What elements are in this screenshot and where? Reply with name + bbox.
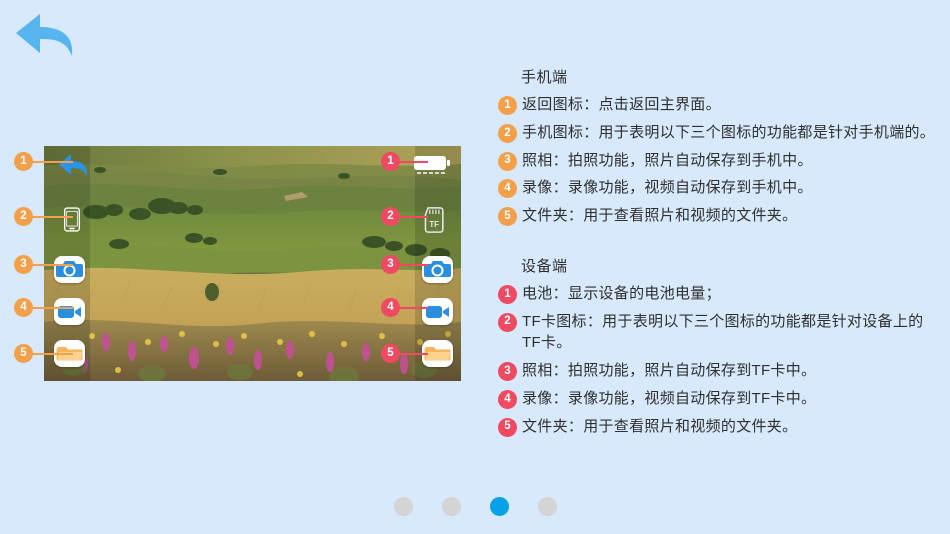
legend-item: 1 返回图标：点击返回主界面。 bbox=[498, 94, 938, 116]
callout-badge: 4 bbox=[14, 298, 33, 317]
callout-phone-4: 4 bbox=[14, 298, 73, 317]
leader-line bbox=[400, 353, 428, 355]
callout-phone-5: 5 bbox=[14, 344, 73, 363]
leader-line bbox=[33, 353, 73, 355]
callout-phone-1: 1 bbox=[14, 152, 73, 171]
section-title: 手机端 bbox=[521, 66, 938, 87]
item-text: 返回图标：点击返回主界面。 bbox=[522, 94, 938, 116]
section-divider bbox=[498, 233, 938, 255]
leader-line bbox=[400, 216, 428, 218]
callout-device-1: 1 bbox=[381, 152, 428, 171]
callout-badge: 4 bbox=[381, 298, 400, 317]
item-badge: 3 bbox=[498, 362, 517, 381]
callout-phone-3: 3 bbox=[14, 255, 73, 274]
callout-badge: 3 bbox=[14, 255, 33, 274]
legend-item: 1 电池：显示设备的电池电量； bbox=[498, 283, 938, 305]
leader-line bbox=[400, 161, 428, 163]
callout-badge: 1 bbox=[14, 152, 33, 171]
item-text: 录像：录像功能，视频自动保存到手机中。 bbox=[522, 177, 938, 199]
item-text: 照相：拍照功能，照片自动保存到TF卡中。 bbox=[522, 360, 938, 382]
pagination-dots bbox=[0, 497, 950, 516]
item-badge: 5 bbox=[498, 418, 517, 437]
item-text: 电池：显示设备的电池电量； bbox=[522, 283, 938, 305]
legend-item: 5 文件夹：用于查看照片和视频的文件夹。 bbox=[498, 416, 938, 438]
callout-device-5: 5 bbox=[381, 344, 428, 363]
callout-badge: 2 bbox=[14, 207, 33, 226]
pagination-dot-3[interactable] bbox=[490, 497, 509, 516]
callout-device-2: 2 bbox=[381, 207, 428, 226]
item-badge: 1 bbox=[498, 96, 517, 115]
item-badge: 2 bbox=[498, 124, 517, 143]
pagination-dot-2[interactable] bbox=[442, 497, 461, 516]
item-text: 文件夹：用于查看照片和视频的文件夹。 bbox=[522, 416, 938, 438]
pagination-dot-1[interactable] bbox=[394, 497, 413, 516]
leader-line bbox=[33, 307, 73, 309]
back-arrow-icon[interactable] bbox=[10, 8, 82, 66]
pagination-dot-4[interactable] bbox=[538, 497, 557, 516]
item-badge: 3 bbox=[498, 152, 517, 171]
section-phone: 手机端 1 返回图标：点击返回主界面。 2 手机图标：用于表明以下三个图标的功能… bbox=[498, 66, 938, 227]
callout-device-3: 3 bbox=[381, 255, 428, 274]
legend-item: 3 照相：拍照功能，照片自动保存到手机中。 bbox=[498, 150, 938, 172]
callout-badge: 5 bbox=[381, 344, 400, 363]
item-text: 文件夹：用于查看照片和视频的文件夹。 bbox=[522, 205, 938, 227]
callout-device-4: 4 bbox=[381, 298, 428, 317]
callout-badge: 3 bbox=[381, 255, 400, 274]
legend-item: 3 照相：拍照功能，照片自动保存到TF卡中。 bbox=[498, 360, 938, 382]
svg-text:TF: TF bbox=[429, 220, 439, 229]
leader-line bbox=[33, 161, 73, 163]
item-badge: 2 bbox=[498, 313, 517, 332]
legend-item: 2 TF卡图标：用于表明以下三个图标的功能都是针对设备上的TF卡。 bbox=[498, 311, 938, 355]
item-badge: 4 bbox=[498, 390, 517, 409]
leader-line bbox=[400, 307, 428, 309]
item-badge: 1 bbox=[498, 285, 517, 304]
legend-item: 4 录像：录像功能，视频自动保存到TF卡中。 bbox=[498, 388, 938, 410]
leader-line bbox=[33, 216, 73, 218]
item-text: TF卡图标：用于表明以下三个图标的功能都是针对设备上的TF卡。 bbox=[522, 311, 938, 355]
callout-badge: 5 bbox=[14, 344, 33, 363]
callout-phone-2: 2 bbox=[14, 207, 73, 226]
section-device: 设备端 1 电池：显示设备的电池电量； 2 TF卡图标：用于表明以下三个图标的功… bbox=[498, 255, 938, 438]
item-text: 照相：拍照功能，照片自动保存到手机中。 bbox=[522, 150, 938, 172]
legend-item: 5 文件夹：用于查看照片和视频的文件夹。 bbox=[498, 205, 938, 227]
callout-badge: 1 bbox=[381, 152, 400, 171]
item-text: 手机图标：用于表明以下三个图标的功能都是针对手机端的。 bbox=[522, 122, 938, 144]
leader-line bbox=[33, 264, 73, 266]
leader-line bbox=[400, 264, 428, 266]
item-text: 录像：录像功能，视频自动保存到TF卡中。 bbox=[522, 388, 938, 410]
item-badge: 5 bbox=[498, 207, 517, 226]
section-title: 设备端 bbox=[521, 255, 938, 276]
legend-item: 2 手机图标：用于表明以下三个图标的功能都是针对手机端的。 bbox=[498, 122, 938, 144]
legend-item: 4 录像：录像功能，视频自动保存到手机中。 bbox=[498, 177, 938, 199]
legend-panel: 手机端 1 返回图标：点击返回主界面。 2 手机图标：用于表明以下三个图标的功能… bbox=[498, 66, 938, 443]
item-badge: 4 bbox=[498, 179, 517, 198]
callout-badge: 2 bbox=[381, 207, 400, 226]
